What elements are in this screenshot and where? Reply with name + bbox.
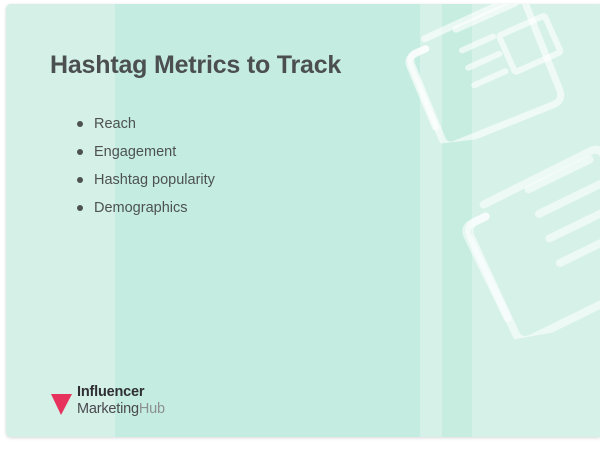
bullet-dot-icon (77, 177, 83, 183)
logo-word-marketing: Marketing (77, 401, 139, 417)
slide-frame: Hashtag Metrics to Track Reach Engagemen… (0, 0, 600, 438)
newspaper-icon (439, 123, 600, 347)
list-item: Reach (70, 116, 215, 132)
arrow-play-mark-icon (50, 390, 76, 416)
list-item-label: Reach (94, 116, 136, 132)
list-item: Demographics (70, 200, 215, 216)
list-item: Engagement (70, 144, 215, 160)
list-item-label: Engagement (94, 144, 176, 160)
logo-wordmark: Influencer MarketingHub (77, 385, 165, 416)
logo-word-hub: Hub (139, 401, 165, 417)
list-item-label: Demographics (94, 200, 188, 216)
newspaper-icon (389, 4, 574, 148)
logo-line-influencer: Influencer (77, 385, 165, 400)
bullet-dot-icon (77, 149, 83, 155)
brand-logo: Influencer MarketingHub (50, 385, 165, 416)
background-band-right-1 (420, 4, 442, 437)
metrics-bullet-list: Reach Engagement Hashtag popularity Demo… (70, 116, 215, 228)
page-title: Hashtag Metrics to Track (50, 50, 341, 80)
bullet-dot-icon (77, 205, 83, 211)
background-band-right-2 (442, 4, 472, 437)
list-item-label: Hashtag popularity (94, 172, 215, 188)
slide-canvas: Hashtag Metrics to Track Reach Engagemen… (6, 4, 600, 437)
background-band-right-3 (472, 4, 600, 437)
logo-line-marketinghub: MarketingHub (77, 402, 165, 417)
list-item: Hashtag popularity (70, 172, 215, 188)
bullet-dot-icon (77, 121, 83, 127)
